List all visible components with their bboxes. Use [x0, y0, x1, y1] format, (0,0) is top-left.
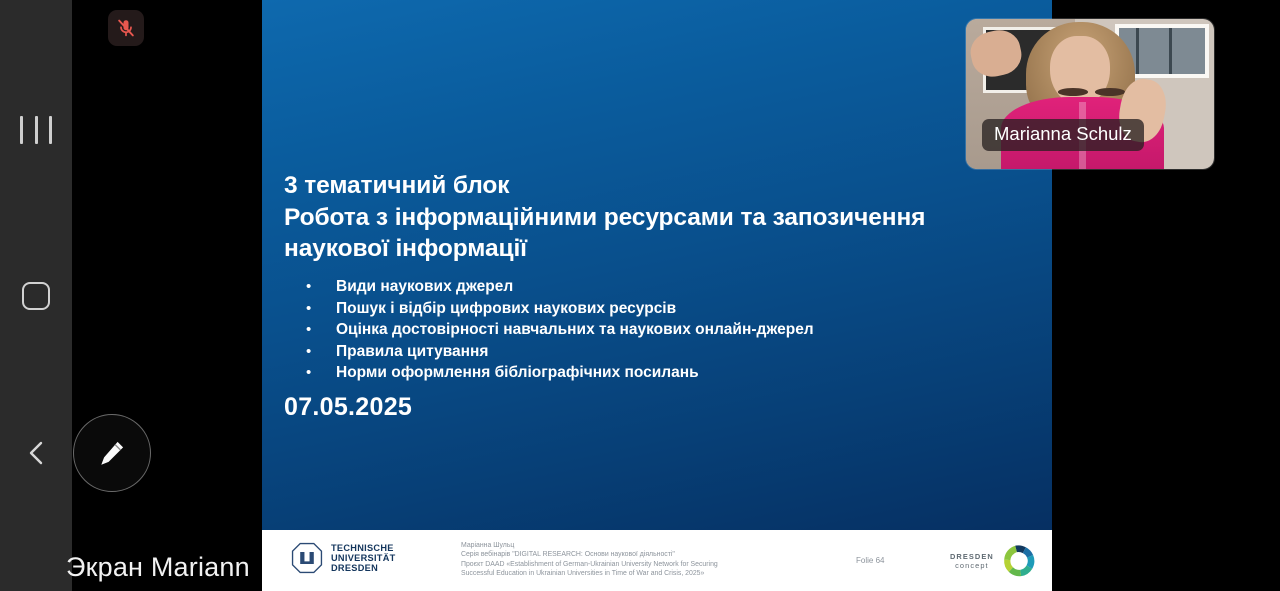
credit-line-1: Маріанна Шульц — [461, 541, 826, 550]
slide-bullet-list: • Види наукових джерел • Пошук і відбір … — [284, 276, 1024, 384]
shared-slide[interactable]: 3 тематичний блок Робота з інформаційним… — [262, 0, 1052, 591]
slide-number: Folie 64 — [856, 556, 884, 565]
pencil-icon — [95, 436, 129, 470]
slide-credits: Маріанна Шульц Серія вебінарів "DIGITAL … — [461, 541, 826, 579]
dresden-concept-logo: DRESDEN concept — [950, 544, 1036, 578]
participant-name-badge: Marianna Schulz — [982, 119, 1144, 151]
chevron-left-icon[interactable] — [22, 438, 52, 468]
screen-share-viewer: Экран Mariann 3 тематичний блок Робота з… — [0, 0, 1280, 591]
tud-line-1: TECHNISCHE — [331, 543, 396, 553]
slide-title-line-1: 3 тематичний блок — [284, 170, 1039, 202]
dc-line-1: DRESDEN — [950, 552, 994, 561]
bullet-marker: • — [284, 298, 336, 320]
home-square-icon[interactable] — [22, 282, 50, 310]
dresden-concept-wordmark: DRESDEN concept — [950, 552, 994, 570]
credit-line-3: Проєкт DAAD «Establishment of German-Ukr… — [461, 560, 826, 569]
recents-bars-icon[interactable] — [20, 116, 52, 144]
list-item-label: Правила цитування — [336, 341, 488, 363]
slide-date: 07.05.2025 — [284, 393, 412, 422]
video-eye-left — [1058, 88, 1088, 96]
list-item-label: Види наукових джерел — [336, 276, 513, 298]
list-item-label: Оцінка достовірності навчальних та науко… — [336, 319, 814, 341]
tu-dresden-mark-icon — [290, 541, 324, 575]
pencil-edit-button[interactable] — [73, 414, 151, 492]
share-label: Экран Mariann — [66, 552, 250, 583]
slide-title-line-2: Робота з інформаційними ресурсами та зап… — [284, 202, 1039, 234]
tu-dresden-logo: TECHNISCHE UNIVERSITÄT DRESDEN — [290, 541, 396, 575]
list-item-label: Пошук і відбір цифрових наукових ресурсі… — [336, 298, 676, 320]
bullet-marker: • — [284, 276, 336, 298]
list-item: • Оцінка достовірності навчальних та нау… — [284, 319, 1024, 341]
participant-video-tile[interactable]: Marianna Schulz — [966, 19, 1214, 169]
list-item-label: Норми оформлення бібліографічних посилан… — [336, 362, 699, 384]
bullet-marker: • — [284, 362, 336, 384]
list-item: • Види наукових джерел — [284, 276, 1024, 298]
tud-line-2: UNIVERSITÄT — [331, 553, 396, 563]
tud-line-3: DRESDEN — [331, 563, 396, 573]
microphone-muted-icon[interactable] — [108, 10, 144, 46]
list-item: • Норми оформлення бібліографічних посил… — [284, 362, 1024, 384]
credit-line-2: Серія вебінарів "DIGITAL RESEARCH: Основ… — [461, 550, 826, 559]
dc-line-2: concept — [950, 561, 994, 570]
slide-title-line-3: наукової інформації — [284, 233, 1039, 265]
credit-line-4: Successful Education in Ukrainian Univer… — [461, 569, 826, 578]
slide-body: 3 тематичний блок Робота з інформаційним… — [262, 0, 1052, 530]
video-eye-right — [1095, 88, 1125, 96]
list-item: • Пошук і відбір цифрових наукових ресур… — [284, 298, 1024, 320]
android-nav-rail — [0, 0, 72, 591]
dresden-concept-ring-icon — [1002, 544, 1036, 578]
list-item: • Правила цитування — [284, 341, 1024, 363]
bullet-marker: • — [284, 319, 336, 341]
tu-dresden-wordmark: TECHNISCHE UNIVERSITÄT DRESDEN — [331, 543, 396, 574]
bullet-marker: • — [284, 341, 336, 363]
slide-footer: TECHNISCHE UNIVERSITÄT DRESDEN Маріанна … — [262, 530, 1052, 591]
slide-title: 3 тематичний блок Робота з інформаційним… — [284, 170, 1039, 265]
